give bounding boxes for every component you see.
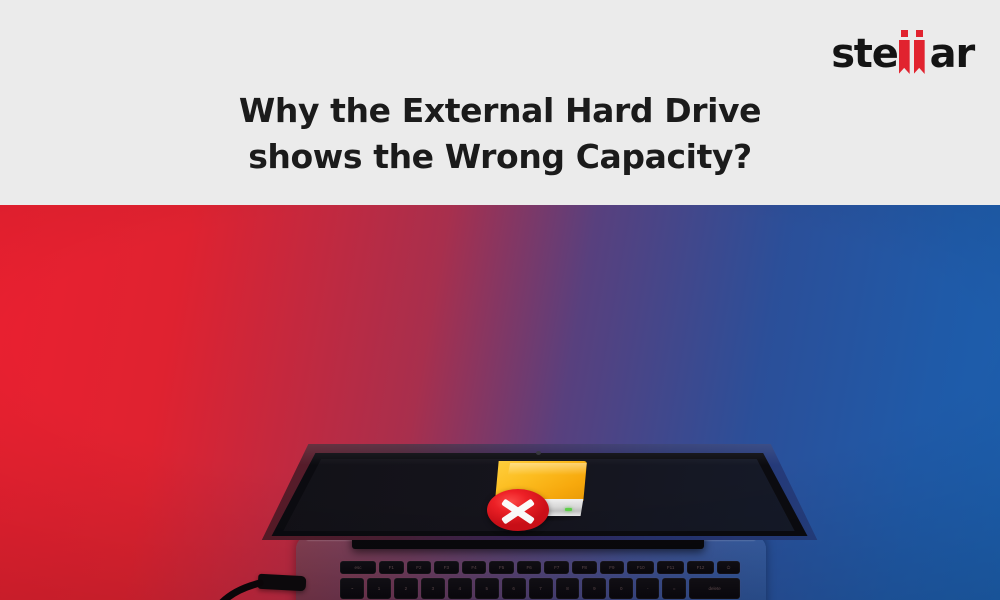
logo-bar-left: [899, 40, 910, 74]
logo-dot-left: [901, 30, 908, 37]
key-power: ⏻: [717, 561, 740, 574]
page-title-line-2: shows the Wrong Capacity?: [0, 134, 1000, 180]
key: F9: [600, 561, 625, 574]
key: 8: [556, 578, 580, 599]
key: 7: [529, 578, 553, 599]
usb-connector-laptop-side: [258, 574, 307, 591]
key: -: [636, 578, 659, 599]
key: 3: [421, 578, 445, 599]
key: F11: [657, 561, 684, 574]
key: F10: [627, 561, 654, 574]
hard-drive-highlight: [507, 463, 587, 475]
stellar-logo[interactable]: ste ar: [831, 30, 974, 74]
key: 6: [502, 578, 526, 599]
key: ~: [340, 578, 364, 599]
key: 4: [448, 578, 472, 599]
keyboard-row-function: esc F1 F2 F3 F4 F5 F6 F7 F8 F9 F10 F11 F…: [340, 561, 740, 574]
key: F6: [517, 561, 542, 574]
key: 0: [609, 578, 633, 599]
logo-bar-right: [914, 40, 925, 74]
laptop-keyboard: esc F1 F2 F3 F4 F5 F6 F7 F8 F9 F10 F11 F…: [340, 561, 740, 600]
key: 1: [367, 578, 391, 599]
header-bar: ste ar Why the External Hard Drive shows…: [0, 0, 1000, 205]
logo-text-after: ar: [930, 34, 974, 74]
hero-image: esc F1 F2 F3 F4 F5 F6 F7 F8 F9 F10 F11 F…: [0, 205, 1000, 600]
key: F1: [379, 561, 404, 574]
page-banner: ste ar Why the External Hard Drive shows…: [0, 0, 1000, 600]
key: F5: [489, 561, 514, 574]
logo-shield-mark-icon: [899, 30, 929, 74]
key-delete: delete: [689, 578, 740, 599]
error-badge-icon: [487, 489, 549, 531]
key: F3: [434, 561, 459, 574]
key: =: [662, 578, 686, 599]
logo-text-before: ste: [831, 34, 897, 74]
key: F2: [407, 561, 432, 574]
hard-drive-error-icon: [487, 461, 595, 523]
key: 2: [394, 578, 418, 599]
page-title-line-1: Why the External Hard Drive: [239, 91, 761, 130]
key: F8: [572, 561, 597, 574]
key: F7: [544, 561, 569, 574]
key: F12: [687, 561, 714, 574]
keyboard-row-numbers: ~ 1 2 3 4 5 6 7 8 9 0 - = delete: [340, 578, 740, 599]
hard-drive-led-indicator: [565, 508, 572, 511]
key: 9: [582, 578, 606, 599]
webcam-icon: [536, 451, 541, 455]
key: esc: [340, 561, 376, 574]
page-title: Why the External Hard Drive shows the Wr…: [0, 88, 1000, 179]
key: F4: [462, 561, 487, 574]
key: 5: [475, 578, 499, 599]
logo-dot-right: [916, 30, 923, 37]
